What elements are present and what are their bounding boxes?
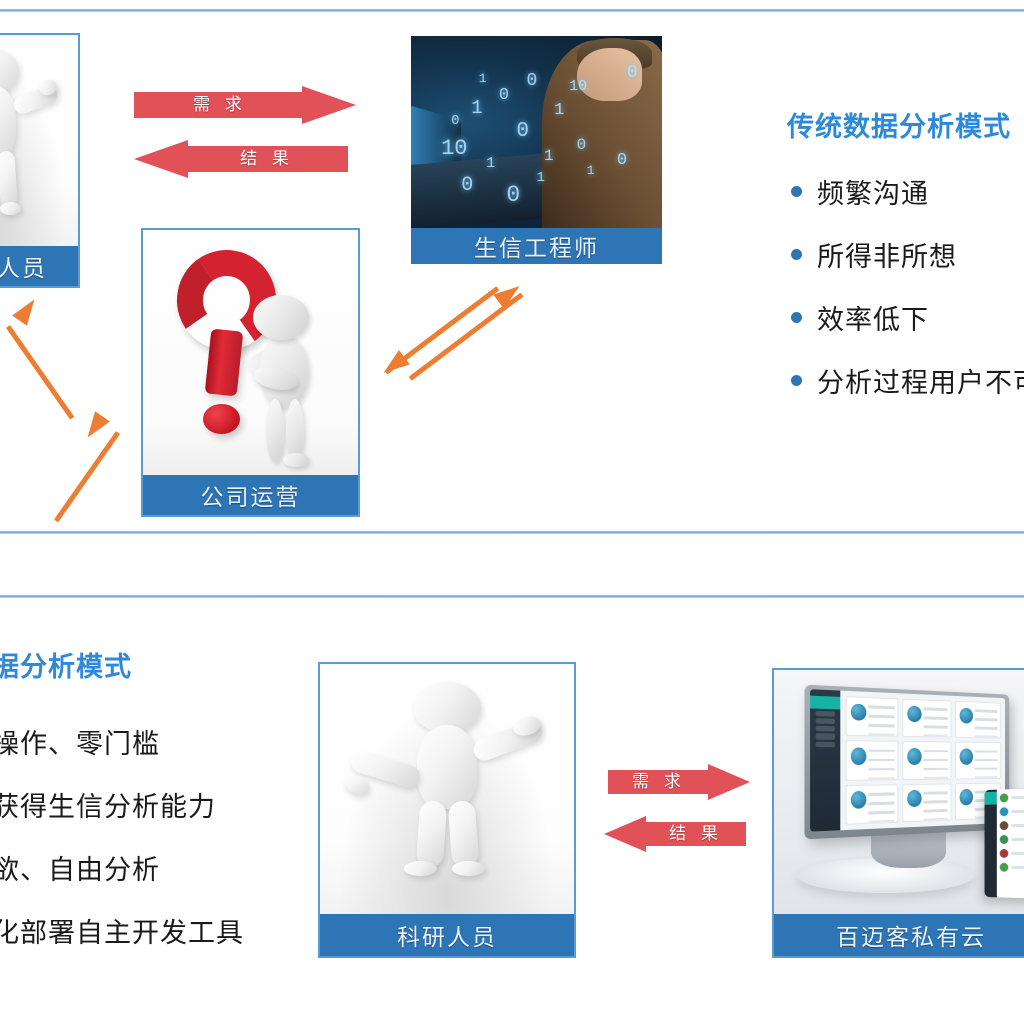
divider-top: [0, 9, 1024, 12]
arrow-demand-top: 需 求: [134, 86, 356, 124]
arrow-result-top: 结 果: [134, 140, 348, 178]
engineer-photo: 10 1 0 1 0 0 1 0 1 0 10 0 1 0 1 0 0 1: [411, 36, 662, 228]
list-item: 效率低下: [791, 286, 1024, 349]
private-cloud-photo: [774, 670, 1024, 918]
bullet-list-cloud: 可视化操作、零门槛 从零中获得生信分析能力 随心所欲、自由分析 可私有化部署自主…: [0, 710, 244, 962]
list-item: 频繁沟通: [791, 160, 1024, 223]
card-operations-caption: 公司运营: [143, 475, 358, 515]
bullet-text: 分析过程用户不可见: [817, 361, 1024, 400]
bullet-text: 频繁沟通: [817, 172, 929, 211]
bullet-text: 所得非所想: [817, 235, 957, 274]
analyst-figure: [0, 35, 78, 250]
orange-arrow-left-down-head: [80, 411, 110, 443]
card-analyst[interactable]: 分析人员: [0, 33, 80, 288]
orange-arrow-left-down-shaft: [6, 325, 74, 420]
list-item: 可私有化部署自主开发工具: [0, 899, 244, 962]
card-researcher[interactable]: 科研人员: [318, 662, 576, 958]
card-researcher-caption: 科研人员: [320, 914, 574, 956]
card-operations[interactable]: 公司运营: [141, 228, 360, 517]
researcher-figure: [320, 664, 574, 918]
arrow-result-bottom-label: 结 果: [604, 816, 746, 852]
card-analyst-caption: 分析人员: [0, 246, 78, 286]
divider-middle-lower: [0, 595, 1024, 598]
heading-traditional-mode: 传统数据分析模式: [787, 105, 1011, 144]
bullet-text: 随心所欲、自由分析: [0, 848, 160, 887]
orange-arrow-left-up-head: [12, 294, 42, 326]
list-item: 可视化操作、零门槛: [0, 710, 244, 773]
arrow-demand-bottom: 需 求: [608, 764, 750, 800]
orange-arrow-left-up-shaft: [54, 431, 120, 522]
bullet-text: 可视化操作、零门槛: [0, 722, 160, 761]
heading-cloud-mode: 百迈客云数据分析模式: [0, 645, 132, 684]
bullet-text: 从零中获得生信分析能力: [0, 785, 216, 824]
bullet-list-traditional: 频繁沟通 所得非所想 效率低下 分析过程用户不可见: [791, 160, 1024, 412]
card-private-cloud-caption: 百迈客私有云: [774, 914, 1024, 956]
bullet-dot-icon: [791, 375, 802, 386]
arrow-result-top-label: 结 果: [134, 140, 348, 178]
slide-canvas: 分析人员 10 1 0 1 0 0 1 0 1 0 10 0: [0, 0, 1024, 1024]
list-item: 所得非所想: [791, 223, 1024, 286]
card-engineer[interactable]: 10 1 0 1 0 0 1 0 1 0 10 0 1 0 1 0 0 1 生信…: [411, 36, 662, 264]
arrow-result-bottom: 结 果: [604, 816, 746, 852]
arrow-demand-bottom-label: 需 求: [608, 764, 750, 800]
arrow-demand-top-label: 需 求: [134, 86, 356, 124]
list-item: 随心所欲、自由分析: [0, 836, 244, 899]
bullet-text: 可私有化部署自主开发工具: [0, 911, 244, 950]
list-item: 分析过程用户不可见: [791, 349, 1024, 412]
orange-arrow-right-down-shaft: [409, 293, 524, 381]
bullet-dot-icon: [791, 186, 802, 197]
bullet-dot-icon: [791, 312, 802, 323]
divider-middle-upper: [0, 531, 1024, 534]
card-engineer-caption: 生信工程师: [411, 228, 662, 264]
bullet-text: 效率低下: [817, 298, 929, 337]
bullet-dot-icon: [791, 249, 802, 260]
list-item: 从零中获得生信分析能力: [0, 773, 244, 836]
question-mark-illustration: [143, 230, 358, 479]
card-private-cloud[interactable]: 百迈客私有云: [772, 668, 1024, 958]
